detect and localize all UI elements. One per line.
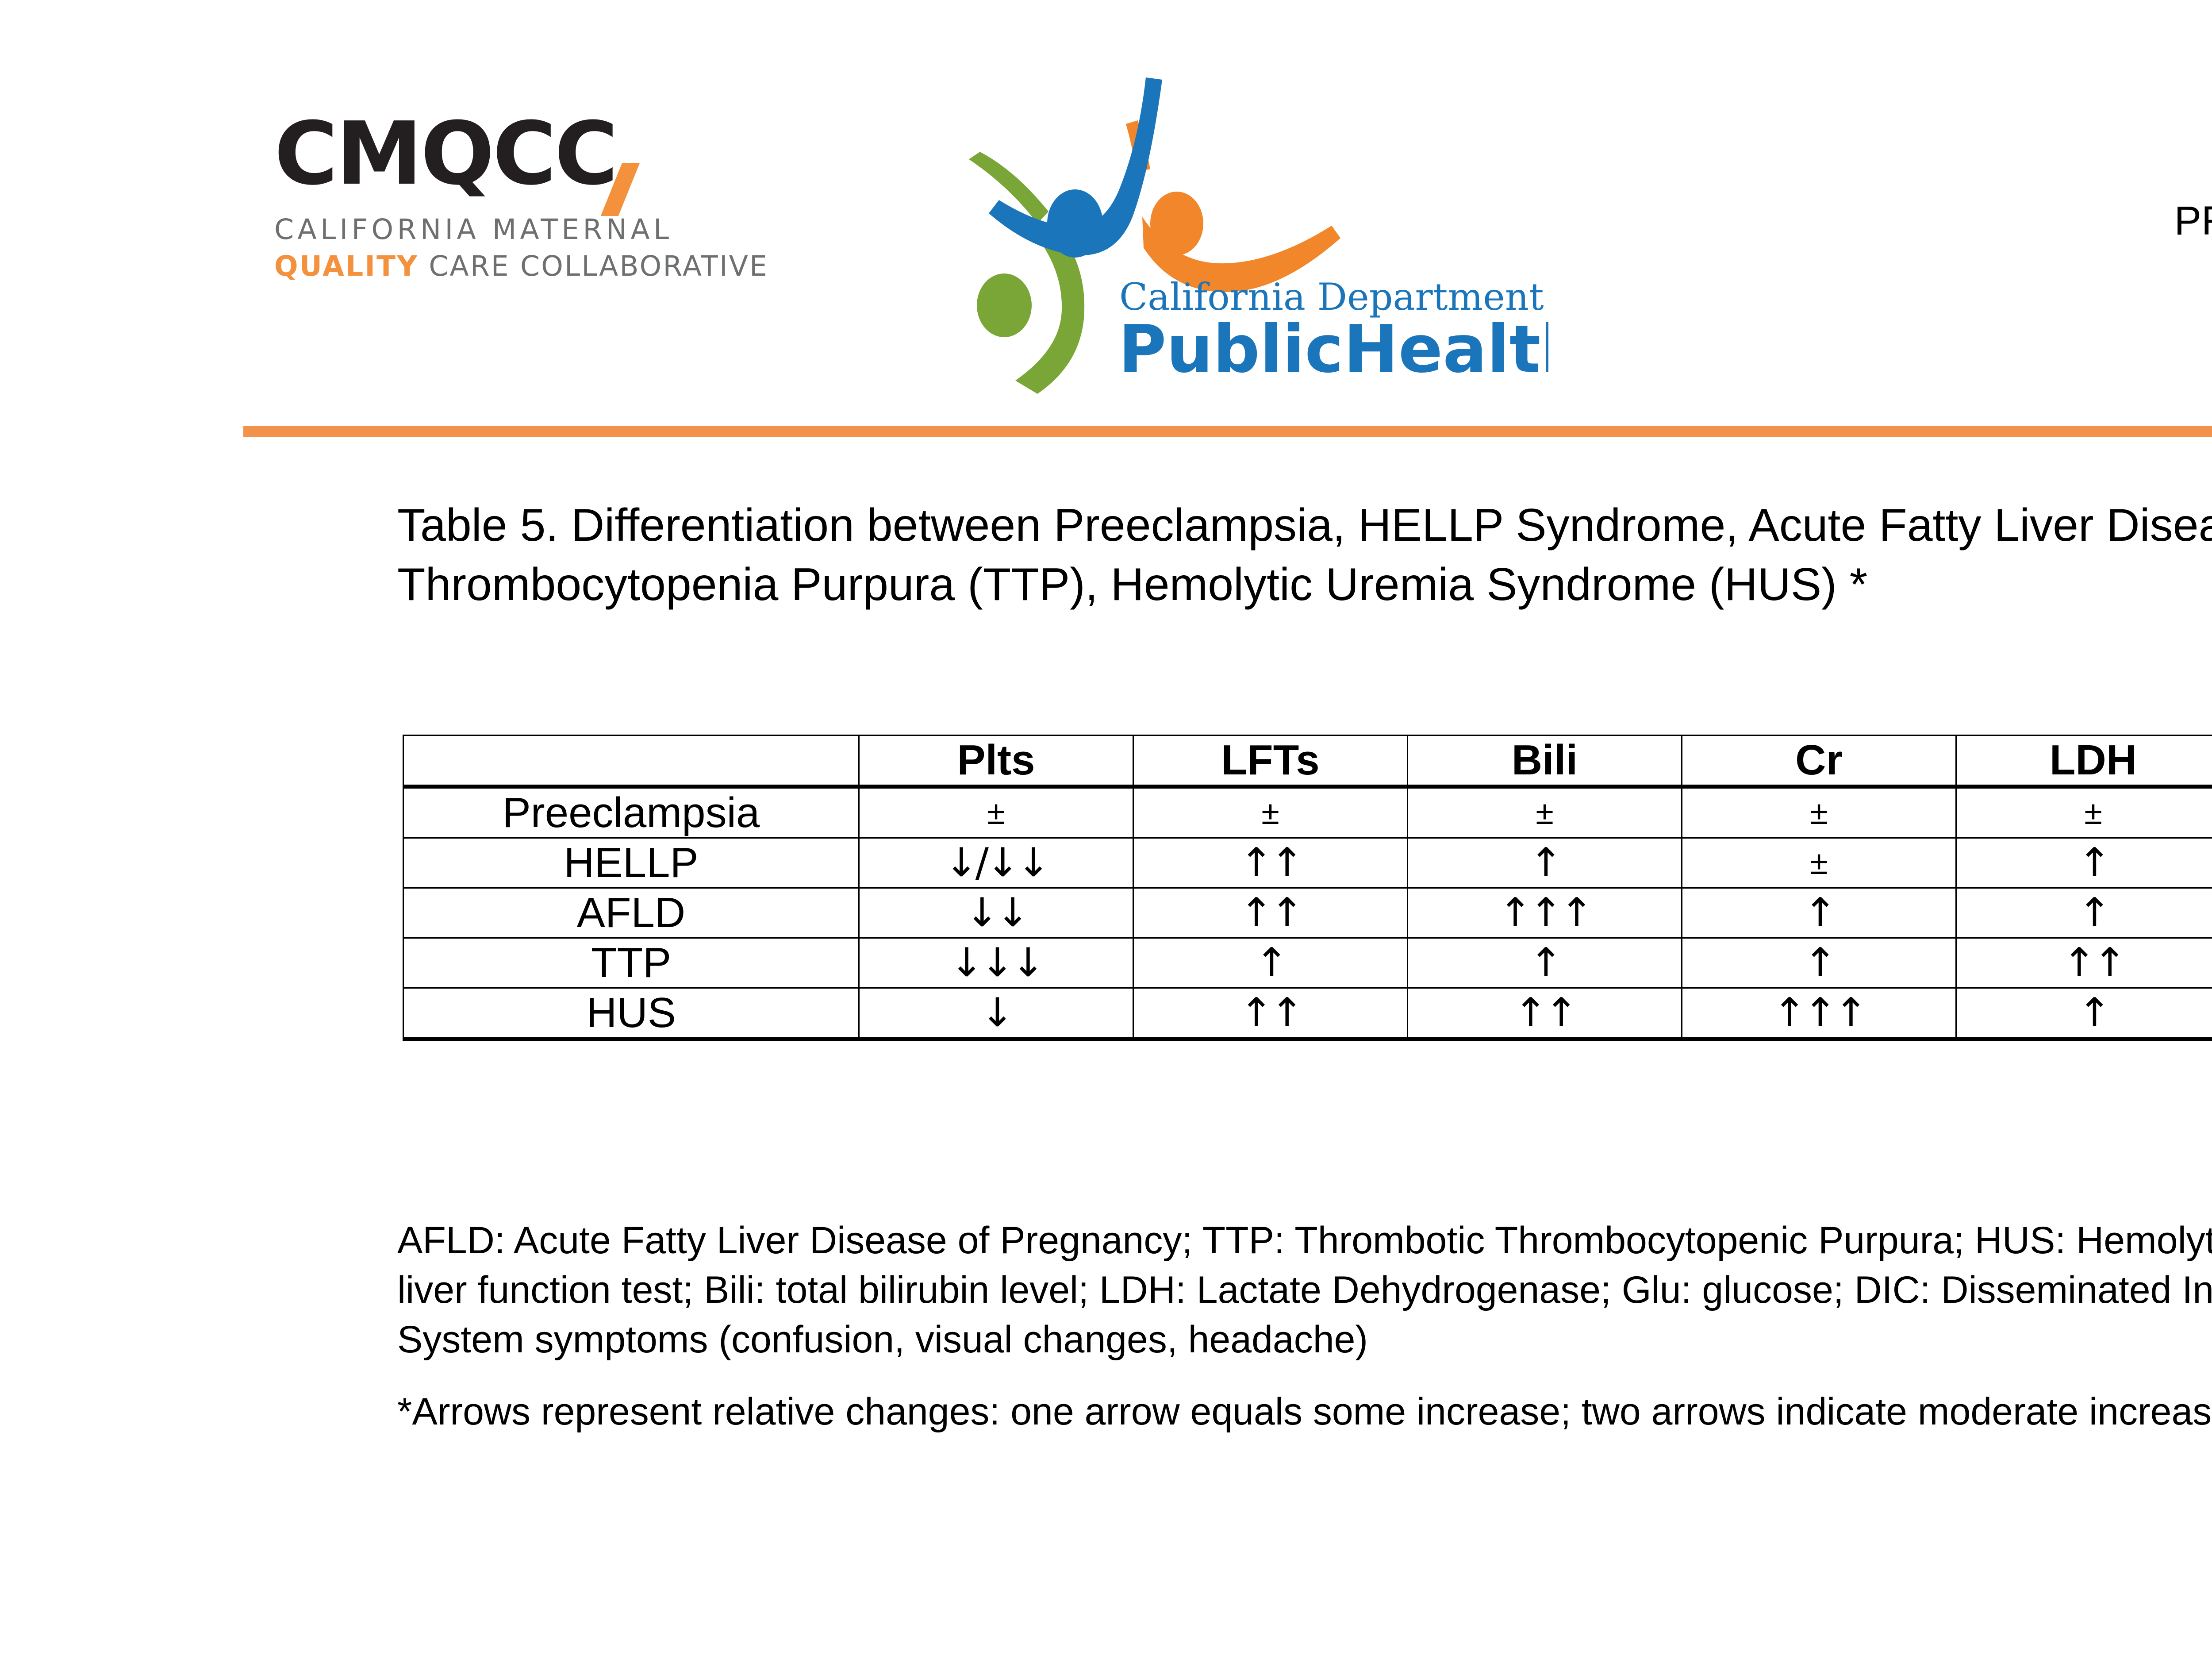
cmqcc-tagline-rest: CARE COLLABORATIVE: [419, 250, 768, 282]
cdph-green-head-icon: [977, 273, 1032, 337]
cell-afld-cr: ↑: [1682, 888, 1956, 938]
header-title-line-2: CMQCC PREECLAMPSIA TOOLKIT: [2174, 248, 2212, 301]
row-label-hus: HUS: [403, 988, 859, 1039]
row-label-ttp: TTP: [403, 938, 859, 988]
cdph-orange-head-icon: [1150, 192, 1203, 255]
table-header-row: Plts LFTs Bili Cr LDH Glu DIC CNS: [403, 735, 2212, 787]
header-title-block: PREECLAMPSIA CARE GUIDELINES AND CMQCC P…: [2174, 195, 2212, 354]
column-header-bili: Bili: [1408, 735, 1682, 787]
cell-hus-bili: ↑↑: [1408, 988, 1682, 1039]
cell-hellp-ldh: ↑: [1956, 838, 2212, 888]
table-title: Table 5. Differentiation between Preecla…: [397, 496, 2212, 614]
cell-hellp-cr: ±: [1682, 838, 1956, 888]
header-title-line-1: PREECLAMPSIA CARE GUIDELINES AND: [2174, 195, 2212, 248]
column-header-ldh: LDH: [1956, 735, 2212, 787]
cell-afld-lfts: ↑↑: [1133, 888, 1408, 938]
table-row: AFLD ↓↓ ↑↑ ↑↑↑ ↑ ↑ ↓↓↓ ↑↑↑ ±: [403, 888, 2212, 938]
cell-hellp-plts: ↓/↓↓: [859, 838, 1133, 888]
table-row: HUS ↓ ↑↑ ↑↑ ↑↑↑ ↑ → ± ±: [403, 988, 2212, 1039]
cell-preeclampsia-bili: ±: [1408, 787, 1682, 838]
cell-afld-ldh: ↑: [1956, 888, 2212, 938]
cell-ttp-plts: ↓↓↓: [859, 938, 1133, 988]
table-row: HELLP ↓/↓↓ ↑↑ ↑ ± ↑ → ± ±: [403, 838, 2212, 888]
cell-ttp-bili: ↑: [1408, 938, 1682, 988]
cmqcc-wordmark-text: CMQCC: [274, 104, 616, 204]
differentiation-table: Plts LFTs Bili Cr LDH Glu DIC CNS Preecl…: [403, 735, 2212, 1041]
cmqcc-tagline-line1: CALIFORNIA MATERNAL: [274, 213, 845, 246]
cmqcc-logo: CMQCC CALIFORNIA MATERNAL QUALITY CARE C…: [274, 111, 845, 282]
cell-hus-ldh: ↑: [1956, 988, 2212, 1039]
cell-hellp-lfts: ↑↑: [1133, 838, 1408, 888]
cmqcc-wordmark: CMQCC: [274, 111, 845, 204]
row-label-hellp: HELLP: [403, 838, 859, 888]
cell-ttp-ldh: ↑↑: [1956, 938, 2212, 988]
cdph-blue-head-icon: [1047, 189, 1103, 258]
cell-afld-plts: ↓↓: [859, 888, 1133, 938]
header-title-line-3: CDPH-MCAH Approved: 12/20/13: [2174, 300, 2212, 354]
cmqcc-tagline-line2: QUALITY CARE COLLABORATIVE: [274, 250, 845, 282]
table-footnote: *Arrows represent relative changes: one …: [397, 1387, 2212, 1437]
cell-hus-plts: ↓: [859, 988, 1133, 1039]
cell-preeclampsia-plts: ±: [859, 787, 1133, 838]
cell-afld-bili: ↑↑↑: [1408, 888, 1682, 938]
cell-hellp-bili: ↑: [1408, 838, 1682, 888]
row-label-afld: AFLD: [403, 888, 859, 938]
table-row: Preeclampsia ± ± ± ± ± → ± ±: [403, 787, 2212, 838]
cell-preeclampsia-lfts: ±: [1133, 787, 1408, 838]
cdph-logo: California Department of PublicHealth: [942, 71, 1548, 394]
column-header-cr: Cr: [1682, 735, 1956, 787]
column-header-lfts: LFTs: [1133, 735, 1408, 787]
table-corner-cell: [403, 735, 859, 787]
cmqcc-tagline-quality: QUALITY: [274, 250, 419, 282]
table-legend: AFLD: Acute Fatty Liver Disease of Pregn…: [397, 1216, 2212, 1364]
cell-ttp-lfts: ↑: [1133, 938, 1408, 988]
row-label-preeclampsia: Preeclampsia: [403, 787, 859, 838]
orange-divider-rule: [243, 426, 2212, 437]
cell-ttp-cr: ↑: [1682, 938, 1956, 988]
cdph-logo-line2: PublicHealth: [1118, 311, 1548, 387]
cell-hus-cr: ↑↑↑: [1682, 988, 1956, 1039]
cell-hus-lfts: ↑↑: [1133, 988, 1408, 1039]
cell-preeclampsia-cr: ±: [1682, 787, 1956, 838]
table-row: TTP ↓↓↓ ↑ ↑ ↑ ↑↑ → ± ++: [403, 938, 2212, 988]
page-header: CMQCC CALIFORNIA MATERNAL QUALITY CARE C…: [0, 0, 2212, 416]
column-header-plts: Plts: [859, 735, 1133, 787]
cell-preeclampsia-ldh: ±: [1956, 787, 2212, 838]
